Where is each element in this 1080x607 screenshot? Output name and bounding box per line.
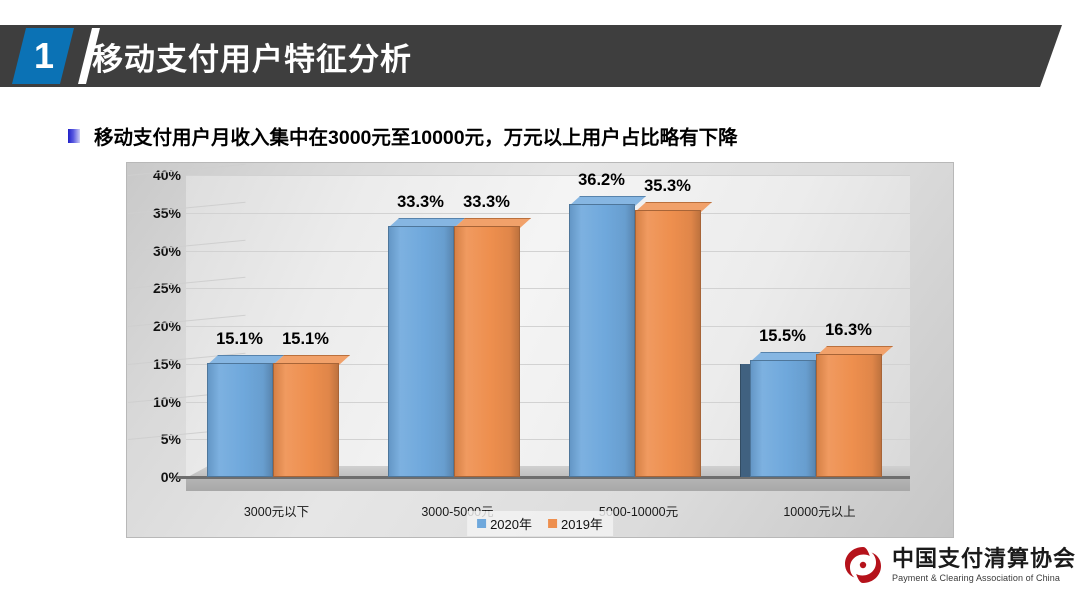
bar-front-face [816,354,882,477]
slide-header: 1 移动支付用户特征分析 [0,25,1080,87]
bar-2020年-3000元以下[interactable] [207,363,273,477]
logo-english-name: Payment & Clearing Association of China [892,573,1076,583]
bar-2019年-3000-5000元[interactable] [454,226,520,477]
pcac-logo-icon [843,545,883,585]
bar-front-face [207,363,273,477]
y-axis-tick-label: 15% [135,356,181,372]
bar-front-face [569,204,635,477]
bar-value-label: 33.3% [444,193,530,212]
bullet-text: 移动支付用户月收入集中在3000元至10000元，万元以上用户占比略有下降 [94,121,738,150]
bullet-row: 移动支付用户月收入集中在3000元至10000元，万元以上用户占比略有下降 [68,121,738,150]
bar-front-face [273,363,339,477]
bar-2020年-3000-5000元[interactable] [388,226,454,477]
bar-front-face [454,226,520,477]
legend-label: 2020年 [490,514,532,533]
legend-label: 2019年 [561,514,603,533]
bar-front-face [750,360,816,477]
x-axis-tick-label: 10000元以上 [709,501,930,520]
bar-value-label: 15.1% [263,330,349,349]
gridline [186,251,910,252]
bar-front-face [388,226,454,477]
plot-floor [186,477,910,491]
y-axis-tick-label: 35% [135,205,181,221]
legend-item-2020年[interactable]: 2020年 [477,514,532,533]
y-axis-tick-label: 20% [135,318,181,334]
legend-swatch-icon [477,519,486,528]
square-bullet-icon [68,129,80,143]
legend-swatch-icon [548,519,557,528]
organization-logo: 中国支付清算协会 Payment & Clearing Association … [843,545,1076,585]
gridline [186,288,910,289]
bar-2020年-10000元以上[interactable] [750,360,816,477]
y-axis: 0%5%10%15%20%25%30%35%40% [133,163,181,537]
y-axis-tick-label: 0% [135,469,181,485]
bar-value-label: 16.3% [806,321,892,340]
bar-value-label: 35.3% [625,177,711,196]
bar-2019年-10000元以上[interactable] [816,354,882,477]
bar-2020年-5000-10000元[interactable] [569,204,635,477]
chart-legend: 2020年2019年 [467,511,613,536]
page-title: 移动支付用户特征分析 [92,25,412,87]
bar-front-face [635,210,701,477]
y-axis-tick-label: 40% [135,167,181,183]
logo-chinese-name: 中国支付清算协会 [892,547,1076,570]
gridline [186,175,910,176]
section-number: 1 [34,35,54,77]
bar-2019年-3000元以下[interactable] [273,363,339,477]
chart-panel: 0%5%10%15%20%25%30%35%40% 15.1%15.1%33.3… [126,162,954,538]
gridline [186,213,910,214]
legend-item-2019年[interactable]: 2019年 [548,514,603,533]
bar-2019年-5000-10000元[interactable] [635,210,701,477]
